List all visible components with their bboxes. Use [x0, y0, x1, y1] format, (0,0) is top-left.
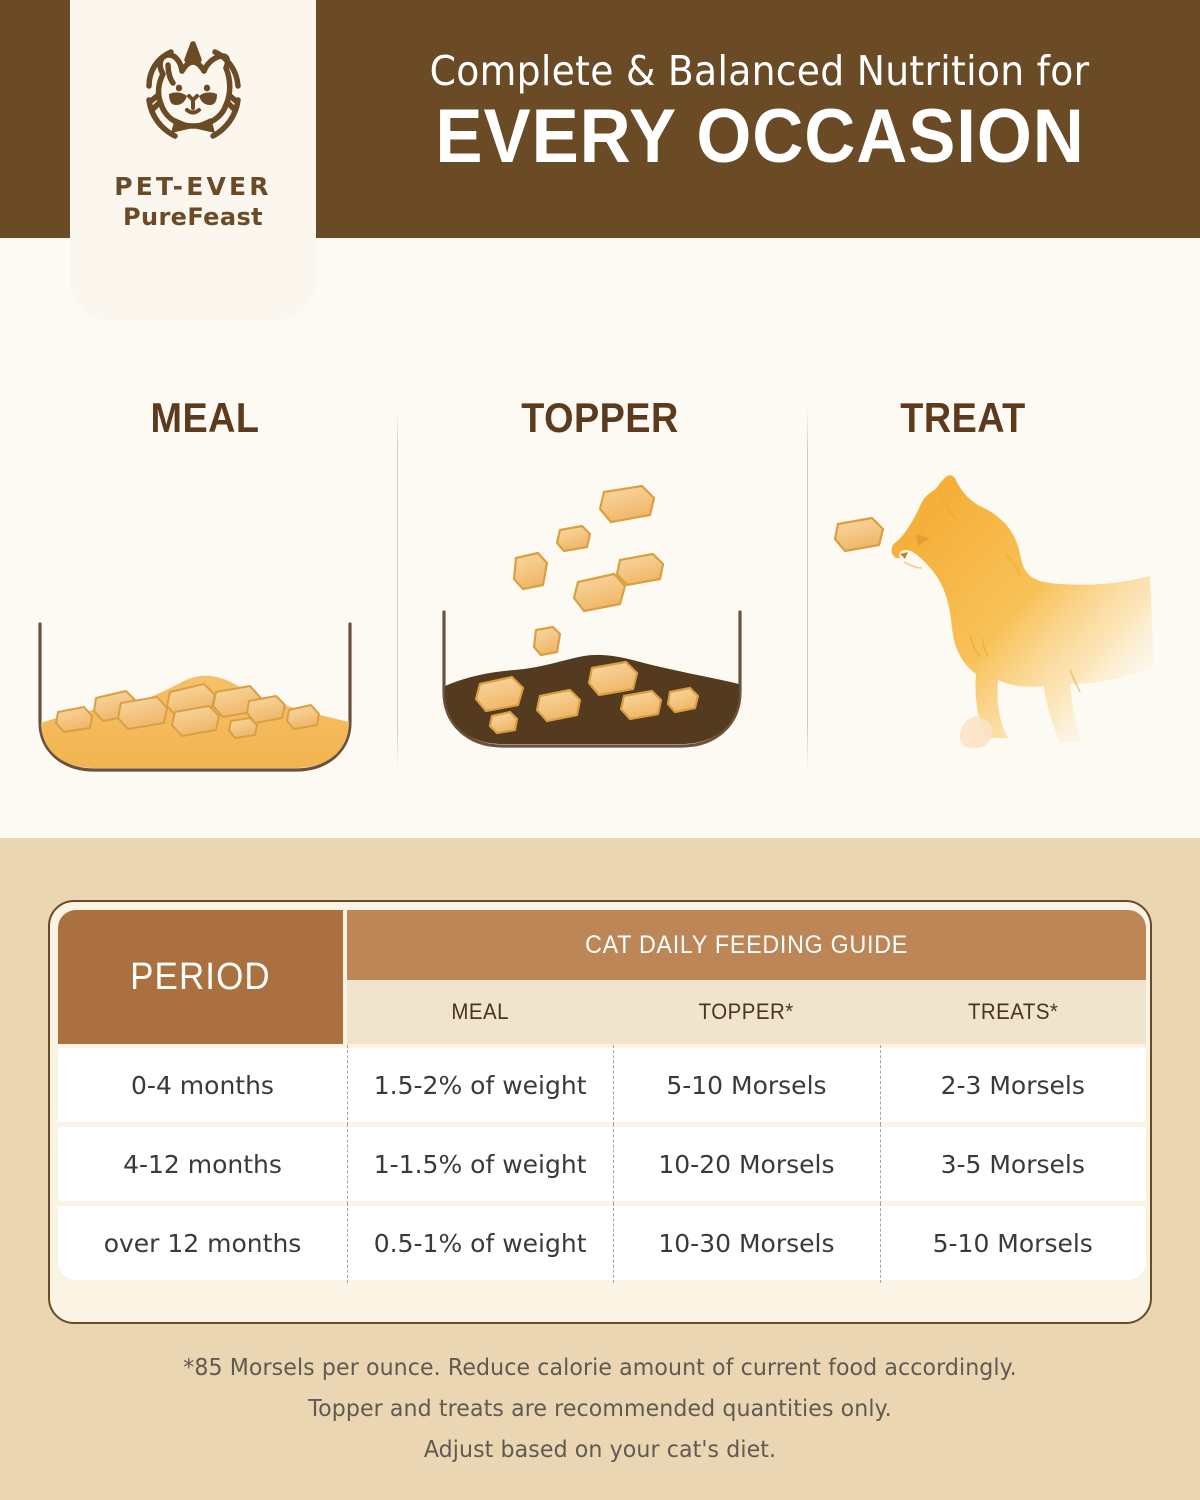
- table-row: 0-4 months 1.5-2% of weight 5-10 Morsels…: [58, 1048, 1146, 1122]
- column-header-meal: MEAL: [356, 980, 604, 1044]
- cat-face-logo-icon: [127, 38, 259, 156]
- table-header-guide: CAT DAILY FEEDING GUIDE: [347, 910, 1146, 980]
- cell-topper: 10-30 Morsels: [613, 1206, 879, 1280]
- table-row: 4-12 months 1-1.5% of weight 10-20 Morse…: [58, 1127, 1146, 1201]
- modes-row: MEAL TOPPER TREAT: [0, 380, 1200, 810]
- cat-with-morsel-icon: [820, 458, 1160, 783]
- footnote-line-3: Adjust based on your cat's diet.: [24, 1430, 1176, 1471]
- mode-title-topper: TOPPER: [497, 394, 704, 442]
- top-section: Complete & Balanced Nutrition for EVERY …: [0, 0, 1200, 838]
- brand-name: PET-EVER: [114, 172, 272, 201]
- guide-title: CAT DAILY FEEDING GUIDE: [585, 931, 908, 960]
- bowl-of-food-icon: [36, 618, 354, 783]
- mode-title-meal: MEAL: [102, 394, 309, 442]
- table-body: 0-4 months 1.5-2% of weight 5-10 Morsels…: [58, 1048, 1146, 1280]
- cell-treats: 3-5 Morsels: [880, 1127, 1146, 1201]
- cell-treats: 2-3 Morsels: [880, 1048, 1146, 1122]
- bottom-section: PERIOD CAT DAILY FEEDING GUIDE MEAL TOPP…: [0, 838, 1200, 1500]
- brand-subname: PureFeast: [123, 203, 263, 231]
- footnotes: *85 Morsels per ounce. Reduce calorie am…: [0, 1348, 1200, 1471]
- mode-title-treat: TREAT: [860, 394, 1067, 442]
- cell-topper: 5-10 Morsels: [613, 1048, 879, 1122]
- table-row: over 12 months 0.5-1% of weight 10-30 Mo…: [58, 1206, 1146, 1280]
- period-label: PERIOD: [130, 956, 271, 999]
- footnote-line-2: Topper and treats are recommended quanti…: [24, 1389, 1176, 1430]
- cell-treats: 5-10 Morsels: [880, 1206, 1146, 1280]
- cell-meal: 1-1.5% of weight: [347, 1127, 613, 1201]
- cell-period: 4-12 months: [58, 1127, 347, 1201]
- feeding-guide-table: PERIOD CAT DAILY FEEDING GUIDE MEAL TOPP…: [48, 900, 1152, 1324]
- cell-period: 0-4 months: [58, 1048, 347, 1122]
- cell-topper: 10-20 Morsels: [613, 1127, 879, 1201]
- cell-meal: 0.5-1% of weight: [347, 1206, 613, 1280]
- divider-meal-topper: [397, 408, 398, 770]
- bowl-with-falling-morsels-icon: [432, 470, 752, 795]
- brand-logo-card: PET-EVER PureFeast: [70, 0, 316, 320]
- header-subtitle: Complete & Balanced Nutrition for: [430, 49, 1090, 94]
- divider-topper-treat: [807, 408, 808, 770]
- header-title-block: Complete & Balanced Nutrition for EVERY …: [330, 0, 1190, 238]
- table-subheader-row: MEAL TOPPER* TREATS*: [347, 980, 1146, 1044]
- column-header-topper: TOPPER*: [623, 980, 871, 1044]
- column-header-treats: TREATS*: [889, 980, 1137, 1044]
- cell-meal: 1.5-2% of weight: [347, 1048, 613, 1122]
- header-title: EVERY OCCASION: [435, 94, 1084, 179]
- cell-period: over 12 months: [58, 1206, 347, 1280]
- footnote-line-1: *85 Morsels per ounce. Reduce calorie am…: [24, 1348, 1176, 1389]
- table-header-period: PERIOD: [58, 910, 343, 1044]
